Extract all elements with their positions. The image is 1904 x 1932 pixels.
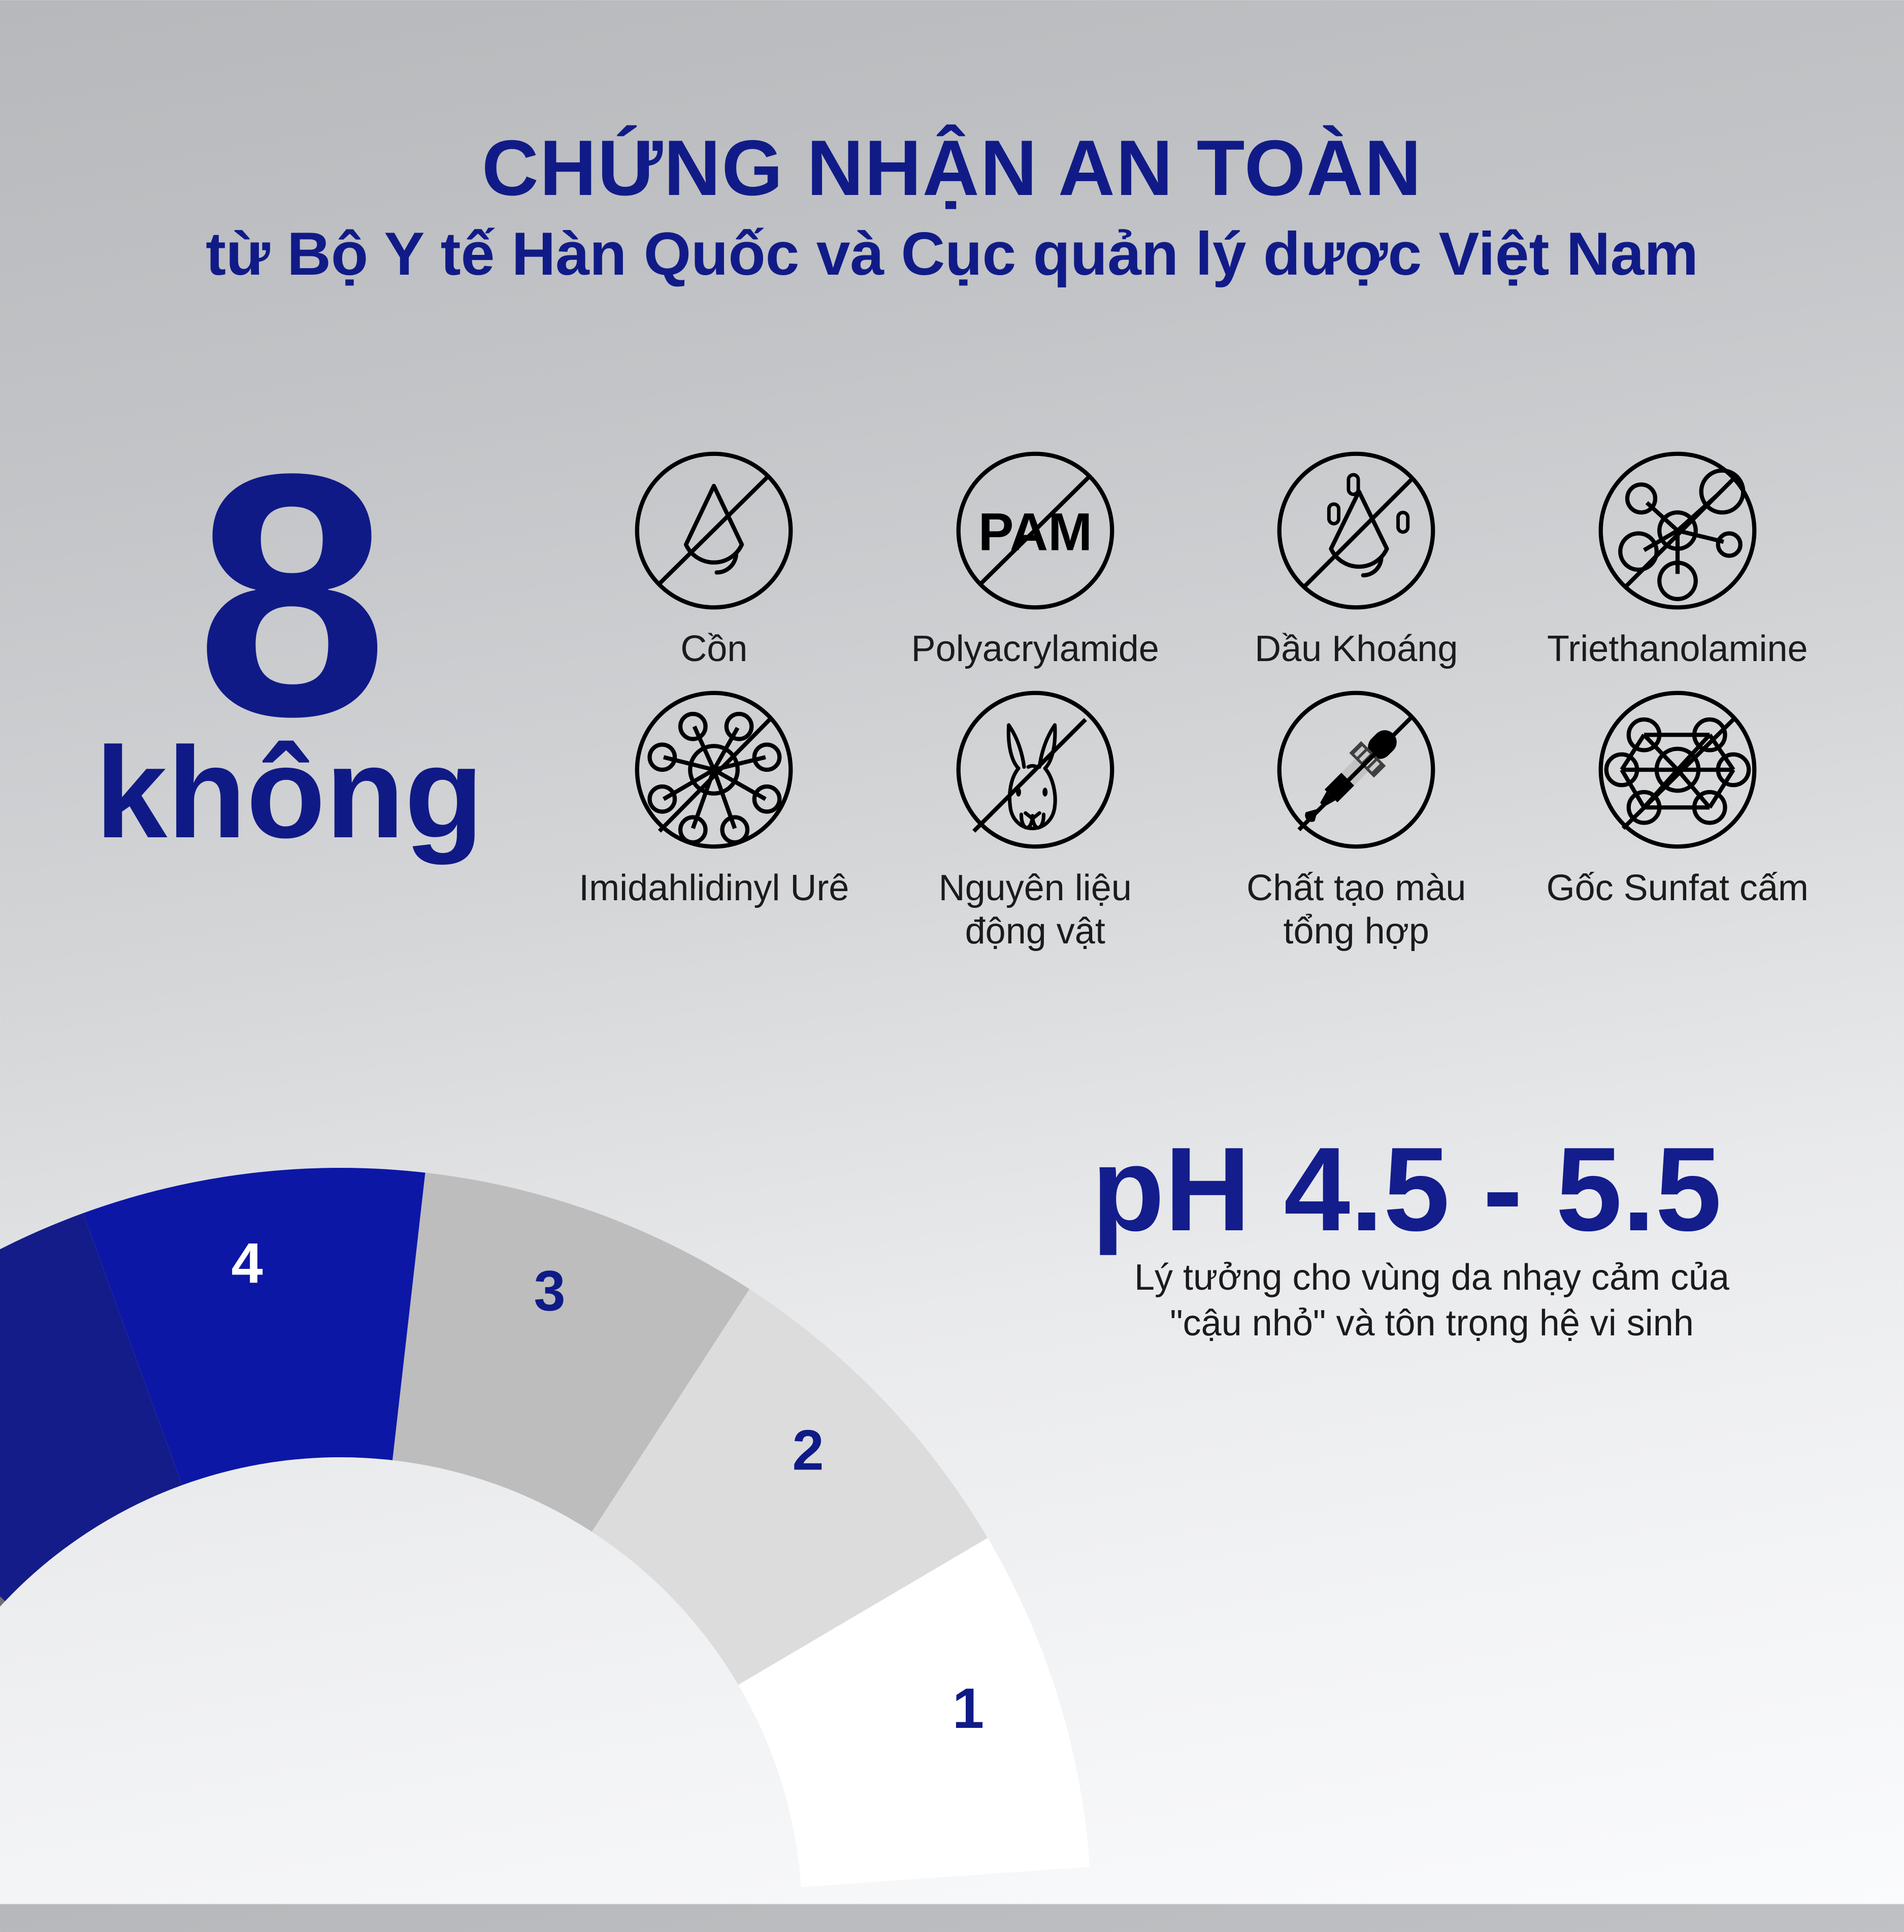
free-from-item-triethanolamine: Triethanolamine [1517, 447, 1839, 671]
free-from-count-block: 8 không [66, 457, 513, 858]
free-from-item-mineral-oil: Dầu Khoáng [1196, 447, 1517, 671]
ph-info-block: pH 4.5 - 5.5 Lý tưởng cho vùng da nhạy c… [1092, 1132, 1843, 1346]
free-from-label: Imidahlidinyl Urê [579, 867, 849, 910]
free-from-count-word: không [66, 728, 513, 858]
free-from-label: Dầu Khoáng [1255, 628, 1458, 671]
free-from-label: Gốc Sunfat cấm [1547, 867, 1809, 910]
no-alcohol-droplet-icon [630, 447, 798, 614]
free-from-count: 8 [66, 457, 513, 733]
free-from-grid: Cồn PAM Polyacrylamide Dầu Khoáng [553, 447, 1838, 953]
no-molecule-radial-icon [630, 686, 798, 854]
header: CHỨNG NHẬN AN TOÀN từ Bộ Y tế Hàn Quốc v… [0, 127, 1904, 289]
no-animal-rabbit-icon [951, 686, 1119, 854]
free-from-label: Polyacrylamide [911, 628, 1159, 671]
no-mineral-oil-droplet-icon [1272, 447, 1440, 614]
free-from-item-alcohol: Cồn [553, 447, 875, 671]
ph-description-line1: Lý tưởng cho vùng da nhạy cảm của [1092, 1255, 1772, 1300]
no-molecule-branch-icon [1594, 447, 1761, 614]
free-from-item-sulfate: Gốc Sunfat cấm [1517, 686, 1839, 953]
no-pam-text-icon: PAM [951, 447, 1119, 614]
no-dropper-dye-icon [1272, 686, 1440, 854]
free-from-item-imidahlidinyl-ure: Imidahlidinyl Urê [553, 686, 875, 953]
no-sulfate-hexagon-icon [1594, 686, 1761, 854]
ph-range-title: pH 4.5 - 5.5 [1092, 1132, 1843, 1246]
free-from-label: Chất tạo màu tổng hợp [1246, 867, 1466, 953]
page-subtitle: từ Bộ Y tế Hàn Quốc và Cục quản lý dược … [0, 219, 1904, 289]
free-from-label: Cồn [680, 628, 747, 671]
free-from-item-animal-origin: Nguyên liệu động vật [875, 686, 1196, 953]
ph-gauge: 1234567 [0, 1107, 1158, 1929]
infographic-page: CHỨNG NHẬN AN TOÀN từ Bộ Y tế Hàn Quốc v… [0, 0, 1904, 1904]
ph-description: Lý tưởng cho vùng da nhạy cảm của "cậu n… [1092, 1255, 1772, 1346]
free-from-item-polyacrylamide: PAM Polyacrylamide [875, 447, 1196, 671]
ph-gauge-segment-label: 4 [232, 1231, 263, 1295]
free-from-label: Triethanolamine [1547, 628, 1808, 671]
page-title: CHỨNG NHẬN AN TOÀN [0, 127, 1904, 210]
ph-gauge-svg: 1234567 [0, 1107, 1158, 1929]
ph-description-line2: "cậu nhỏ" và tôn trọng hệ vi sinh [1092, 1300, 1772, 1346]
free-from-item-synthetic-colorant: Chất tạo màu tổng hợp [1196, 686, 1517, 953]
ph-gauge-segment-label: 2 [792, 1419, 824, 1482]
free-from-label: Nguyên liệu động vật [939, 867, 1132, 953]
ph-gauge-segment-label: 1 [953, 1677, 984, 1740]
ph-gauge-segment-label: 3 [534, 1259, 565, 1322]
